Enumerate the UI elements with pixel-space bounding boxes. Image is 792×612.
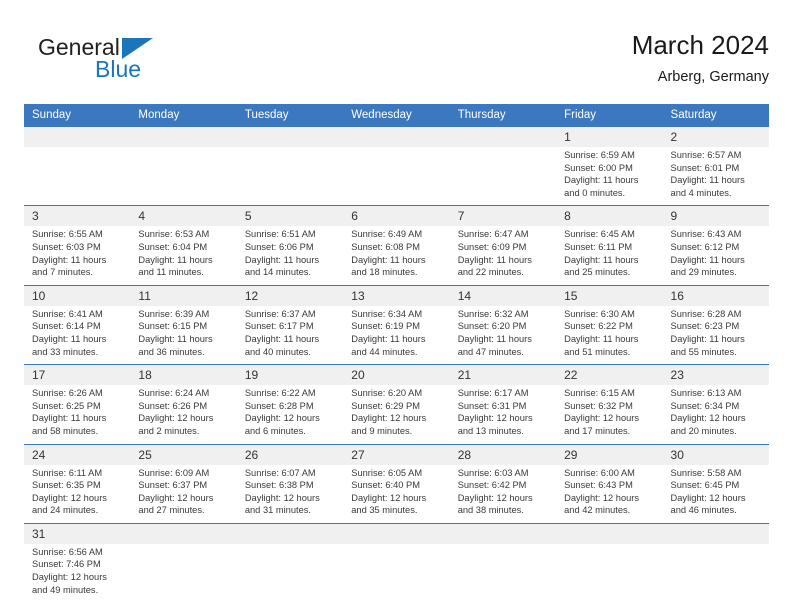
day-detail-23: Sunrise: 6:13 AMSunset: 6:34 PMDaylight:…: [663, 385, 769, 444]
day-detail-4: Sunrise: 6:53 AMSunset: 6:04 PMDaylight:…: [130, 226, 236, 285]
day-detail-line: Sunset: 6:09 PM: [458, 241, 550, 254]
day-detail-line: Daylight: 12 hours: [458, 492, 550, 505]
day-detail-line: Sunrise: 6:39 AM: [138, 308, 230, 321]
day-detail-row: Sunrise: 6:59 AMSunset: 6:00 PMDaylight:…: [24, 147, 769, 206]
day-detail-line: and 0 minutes.: [564, 187, 656, 200]
day-detail-line: Daylight: 11 hours: [564, 174, 656, 187]
day-detail-line: Sunrise: 6:11 AM: [32, 467, 124, 480]
day-detail-line: Daylight: 11 hours: [458, 333, 550, 346]
day-detail-line: and 7 minutes.: [32, 266, 124, 279]
day-detail-line: Sunrise: 6:32 AM: [458, 308, 550, 321]
day-number-empty: [556, 523, 662, 544]
day-detail-line: and 51 minutes.: [564, 346, 656, 359]
day-detail-line: and 13 minutes.: [458, 425, 550, 438]
day-detail-line: Sunset: 6:31 PM: [458, 400, 550, 413]
day-number-empty: [450, 523, 556, 544]
day-number-15[interactable]: 15: [556, 285, 662, 306]
day-detail-9: Sunrise: 6:43 AMSunset: 6:12 PMDaylight:…: [663, 226, 769, 285]
day-detail-line: Daylight: 11 hours: [564, 254, 656, 267]
day-number-3[interactable]: 3: [24, 206, 130, 227]
day-detail-line: Sunrise: 6:59 AM: [564, 149, 656, 162]
day-detail-27: Sunrise: 6:05 AMSunset: 6:40 PMDaylight:…: [343, 465, 449, 524]
day-detail-line: and 47 minutes.: [458, 346, 550, 359]
day-detail-empty: [663, 544, 769, 602]
day-detail-row: Sunrise: 6:26 AMSunset: 6:25 PMDaylight:…: [24, 385, 769, 444]
day-detail-line: Sunset: 6:29 PM: [351, 400, 443, 413]
day-detail-30: Sunrise: 5:58 AMSunset: 6:45 PMDaylight:…: [663, 465, 769, 524]
day-detail-line: Sunrise: 6:57 AM: [671, 149, 763, 162]
day-detail-line: Sunset: 6:25 PM: [32, 400, 124, 413]
day-detail-20: Sunrise: 6:20 AMSunset: 6:29 PMDaylight:…: [343, 385, 449, 444]
day-detail-line: Sunrise: 6:26 AM: [32, 387, 124, 400]
day-number-4[interactable]: 4: [130, 206, 236, 227]
day-number-empty: [130, 523, 236, 544]
day-number-27[interactable]: 27: [343, 444, 449, 465]
day-detail-line: Sunset: 6:26 PM: [138, 400, 230, 413]
logo-text-blue: Blue: [95, 56, 141, 82]
day-detail-1: Sunrise: 6:59 AMSunset: 6:00 PMDaylight:…: [556, 147, 662, 206]
day-number-22[interactable]: 22: [556, 365, 662, 386]
day-detail-line: Sunrise: 6:00 AM: [564, 467, 656, 480]
day-detail-row: Sunrise: 6:55 AMSunset: 6:03 PMDaylight:…: [24, 226, 769, 285]
day-detail-26: Sunrise: 6:07 AMSunset: 6:38 PMDaylight:…: [237, 465, 343, 524]
day-detail-line: and 55 minutes.: [671, 346, 763, 359]
day-number-17[interactable]: 17: [24, 365, 130, 386]
day-number-row: 3456789: [24, 206, 769, 227]
day-detail-empty: [24, 147, 130, 206]
day-detail-line: and 14 minutes.: [245, 266, 337, 279]
day-number-12[interactable]: 12: [237, 285, 343, 306]
day-number-28[interactable]: 28: [450, 444, 556, 465]
day-detail-line: Sunrise: 6:51 AM: [245, 228, 337, 241]
day-detail-line: Sunrise: 6:07 AM: [245, 467, 337, 480]
day-detail-line: Daylight: 12 hours: [564, 412, 656, 425]
day-number-row: 10111213141516: [24, 285, 769, 306]
day-detail-line: Daylight: 11 hours: [138, 333, 230, 346]
day-detail-line: and 36 minutes.: [138, 346, 230, 359]
day-detail-line: Sunset: 6:42 PM: [458, 479, 550, 492]
day-detail-line: Daylight: 11 hours: [671, 174, 763, 187]
general-blue-logo[interactable]: General Blue: [38, 34, 218, 94]
day-number-11[interactable]: 11: [130, 285, 236, 306]
day-number-empty: [450, 127, 556, 147]
day-number-7[interactable]: 7: [450, 206, 556, 227]
day-detail-line: and 22 minutes.: [458, 266, 550, 279]
day-detail-line: and 29 minutes.: [671, 266, 763, 279]
page-title: March 2024: [632, 28, 769, 62]
day-number-30[interactable]: 30: [663, 444, 769, 465]
day-number-empty: [130, 127, 236, 147]
day-detail-line: Sunrise: 6:49 AM: [351, 228, 443, 241]
day-detail-line: Daylight: 11 hours: [138, 254, 230, 267]
weekday-header-thursday: Thursday: [450, 104, 556, 127]
day-number-row: 24252627282930: [24, 444, 769, 465]
weekday-header-saturday: Saturday: [663, 104, 769, 127]
day-number-23[interactable]: 23: [663, 365, 769, 386]
day-detail-line: Sunset: 6:28 PM: [245, 400, 337, 413]
day-detail-15: Sunrise: 6:30 AMSunset: 6:22 PMDaylight:…: [556, 306, 662, 365]
day-detail-line: Daylight: 12 hours: [564, 492, 656, 505]
day-number-14[interactable]: 14: [450, 285, 556, 306]
day-number-25[interactable]: 25: [130, 444, 236, 465]
calendar-body: 12Sunrise: 6:59 AMSunset: 6:00 PMDayligh…: [24, 127, 769, 602]
day-detail-line: and 20 minutes.: [671, 425, 763, 438]
day-number-empty: [24, 127, 130, 147]
day-number-9[interactable]: 9: [663, 206, 769, 227]
weekday-header-wednesday: Wednesday: [343, 104, 449, 127]
day-number-10[interactable]: 10: [24, 285, 130, 306]
day-detail-line: Sunrise: 6:45 AM: [564, 228, 656, 241]
day-detail-line: and 49 minutes.: [32, 584, 124, 597]
day-detail-line: and 35 minutes.: [351, 504, 443, 517]
day-number-8[interactable]: 8: [556, 206, 662, 227]
day-detail-row: Sunrise: 6:56 AMSunset: 7:46 PMDaylight:…: [24, 544, 769, 602]
day-detail-empty: [450, 544, 556, 602]
day-detail-line: Sunset: 6:03 PM: [32, 241, 124, 254]
day-detail-line: Sunset: 6:20 PM: [458, 320, 550, 333]
day-detail-line: Sunrise: 6:17 AM: [458, 387, 550, 400]
day-detail-12: Sunrise: 6:37 AMSunset: 6:17 PMDaylight:…: [237, 306, 343, 365]
weekday-header-tuesday: Tuesday: [237, 104, 343, 127]
day-number-16[interactable]: 16: [663, 285, 769, 306]
title-block: March 2024 Arberg, Germany: [632, 28, 769, 88]
day-detail-24: Sunrise: 6:11 AMSunset: 6:35 PMDaylight:…: [24, 465, 130, 524]
day-detail-line: Sunset: 6:14 PM: [32, 320, 124, 333]
day-number-2[interactable]: 2: [663, 127, 769, 147]
day-detail-empty: [130, 544, 236, 602]
day-detail-11: Sunrise: 6:39 AMSunset: 6:15 PMDaylight:…: [130, 306, 236, 365]
day-detail-line: Sunset: 6:43 PM: [564, 479, 656, 492]
day-detail-line: Sunrise: 6:09 AM: [138, 467, 230, 480]
day-number-empty: [237, 127, 343, 147]
day-detail-19: Sunrise: 6:22 AMSunset: 6:28 PMDaylight:…: [237, 385, 343, 444]
day-detail-10: Sunrise: 6:41 AMSunset: 6:14 PMDaylight:…: [24, 306, 130, 365]
day-number-empty: [343, 523, 449, 544]
day-number-row: 12: [24, 127, 769, 147]
day-number-18[interactable]: 18: [130, 365, 236, 386]
day-detail-line: and 38 minutes.: [458, 504, 550, 517]
day-detail-empty: [450, 147, 556, 206]
day-detail-line: and 33 minutes.: [32, 346, 124, 359]
day-detail-21: Sunrise: 6:17 AMSunset: 6:31 PMDaylight:…: [450, 385, 556, 444]
day-detail-line: Sunset: 6:40 PM: [351, 479, 443, 492]
day-detail-line: Daylight: 12 hours: [351, 412, 443, 425]
day-detail-line: Sunrise: 6:05 AM: [351, 467, 443, 480]
day-detail-25: Sunrise: 6:09 AMSunset: 6:37 PMDaylight:…: [130, 465, 236, 524]
day-detail-13: Sunrise: 6:34 AMSunset: 6:19 PMDaylight:…: [343, 306, 449, 365]
day-detail-line: Daylight: 11 hours: [351, 333, 443, 346]
day-detail-line: Sunset: 6:08 PM: [351, 241, 443, 254]
day-detail-line: Sunrise: 6:13 AM: [671, 387, 763, 400]
page-header: General Blue March 2024 Arberg, Germany: [24, 28, 769, 100]
day-number-empty: [343, 127, 449, 147]
day-detail-row: Sunrise: 6:11 AMSunset: 6:35 PMDaylight:…: [24, 465, 769, 524]
day-detail-17: Sunrise: 6:26 AMSunset: 6:25 PMDaylight:…: [24, 385, 130, 444]
day-detail-line: Sunset: 6:15 PM: [138, 320, 230, 333]
day-detail-empty: [130, 147, 236, 206]
day-number-row: 17181920212223: [24, 365, 769, 386]
day-detail-line: Sunset: 7:46 PM: [32, 558, 124, 571]
day-detail-28: Sunrise: 6:03 AMSunset: 6:42 PMDaylight:…: [450, 465, 556, 524]
day-detail-line: Daylight: 12 hours: [245, 492, 337, 505]
day-detail-line: Sunrise: 6:24 AM: [138, 387, 230, 400]
day-number-20[interactable]: 20: [343, 365, 449, 386]
day-detail-line: Sunset: 6:23 PM: [671, 320, 763, 333]
day-detail-line: Sunrise: 6:41 AM: [32, 308, 124, 321]
day-detail-line: Daylight: 11 hours: [351, 254, 443, 267]
day-number-empty: [663, 523, 769, 544]
day-detail-row: Sunrise: 6:41 AMSunset: 6:14 PMDaylight:…: [24, 306, 769, 365]
day-detail-line: and 2 minutes.: [138, 425, 230, 438]
day-detail-line: and 4 minutes.: [671, 187, 763, 200]
day-detail-line: and 18 minutes.: [351, 266, 443, 279]
day-detail-line: Sunrise: 6:22 AM: [245, 387, 337, 400]
day-number-26[interactable]: 26: [237, 444, 343, 465]
day-detail-empty: [556, 544, 662, 602]
day-detail-line: Sunrise: 6:15 AM: [564, 387, 656, 400]
day-number-21[interactable]: 21: [450, 365, 556, 386]
day-number-13[interactable]: 13: [343, 285, 449, 306]
day-detail-line: Sunset: 6:06 PM: [245, 241, 337, 254]
day-detail-6: Sunrise: 6:49 AMSunset: 6:08 PMDaylight:…: [343, 226, 449, 285]
day-detail-5: Sunrise: 6:51 AMSunset: 6:06 PMDaylight:…: [237, 226, 343, 285]
day-detail-line: Daylight: 12 hours: [32, 492, 124, 505]
day-detail-8: Sunrise: 6:45 AMSunset: 6:11 PMDaylight:…: [556, 226, 662, 285]
day-detail-line: and 40 minutes.: [245, 346, 337, 359]
day-detail-line: and 9 minutes.: [351, 425, 443, 438]
day-detail-line: Sunrise: 6:20 AM: [351, 387, 443, 400]
day-detail-line: Sunrise: 6:03 AM: [458, 467, 550, 480]
day-number-29[interactable]: 29: [556, 444, 662, 465]
day-detail-line: Sunset: 6:01 PM: [671, 162, 763, 175]
weekday-header-monday: Monday: [130, 104, 236, 127]
day-detail-empty: [237, 147, 343, 206]
day-detail-line: Sunset: 6:17 PM: [245, 320, 337, 333]
day-number-19[interactable]: 19: [237, 365, 343, 386]
day-detail-line: and 11 minutes.: [138, 266, 230, 279]
day-detail-line: Sunset: 6:45 PM: [671, 479, 763, 492]
day-detail-line: Sunset: 6:38 PM: [245, 479, 337, 492]
day-detail-line: Daylight: 12 hours: [138, 412, 230, 425]
day-number-5[interactable]: 5: [237, 206, 343, 227]
day-number-row: 31: [24, 523, 769, 544]
day-detail-line: Daylight: 11 hours: [671, 333, 763, 346]
day-detail-line: Sunset: 6:37 PM: [138, 479, 230, 492]
day-detail-line: Sunrise: 6:37 AM: [245, 308, 337, 321]
day-detail-line: Daylight: 11 hours: [564, 333, 656, 346]
day-number-empty: [237, 523, 343, 544]
day-detail-31: Sunrise: 6:56 AMSunset: 7:46 PMDaylight:…: [24, 544, 130, 602]
day-detail-line: Daylight: 12 hours: [32, 571, 124, 584]
weekday-header-row: Sunday Monday Tuesday Wednesday Thursday…: [24, 104, 769, 127]
day-detail-line: Sunrise: 5:58 AM: [671, 467, 763, 480]
day-detail-empty: [343, 544, 449, 602]
day-detail-line: Daylight: 11 hours: [245, 254, 337, 267]
day-number-24[interactable]: 24: [24, 444, 130, 465]
day-detail-line: and 24 minutes.: [32, 504, 124, 517]
weekday-header-friday: Friday: [556, 104, 662, 127]
day-detail-empty: [343, 147, 449, 206]
day-detail-line: Sunset: 6:00 PM: [564, 162, 656, 175]
day-detail-line: Sunrise: 6:53 AM: [138, 228, 230, 241]
page-subtitle: Arberg, Germany: [632, 66, 769, 88]
day-detail-29: Sunrise: 6:00 AMSunset: 6:43 PMDaylight:…: [556, 465, 662, 524]
day-number-31[interactable]: 31: [24, 523, 130, 544]
day-detail-line: Sunrise: 6:43 AM: [671, 228, 763, 241]
day-detail-line: and 27 minutes.: [138, 504, 230, 517]
day-detail-line: Daylight: 11 hours: [32, 412, 124, 425]
day-detail-2: Sunrise: 6:57 AMSunset: 6:01 PMDaylight:…: [663, 147, 769, 206]
day-detail-line: Sunrise: 6:30 AM: [564, 308, 656, 321]
day-detail-line: Sunrise: 6:34 AM: [351, 308, 443, 321]
day-detail-line: Sunrise: 6:55 AM: [32, 228, 124, 241]
day-detail-line: Daylight: 11 hours: [245, 333, 337, 346]
weekday-header-sunday: Sunday: [24, 104, 130, 127]
day-detail-line: Sunrise: 6:56 AM: [32, 546, 124, 559]
day-detail-line: Sunrise: 6:28 AM: [671, 308, 763, 321]
day-detail-line: Daylight: 11 hours: [32, 254, 124, 267]
day-detail-line: Sunset: 6:04 PM: [138, 241, 230, 254]
day-detail-14: Sunrise: 6:32 AMSunset: 6:20 PMDaylight:…: [450, 306, 556, 365]
day-detail-line: Sunset: 6:12 PM: [671, 241, 763, 254]
day-detail-22: Sunrise: 6:15 AMSunset: 6:32 PMDaylight:…: [556, 385, 662, 444]
calendar-page: General Blue March 2024 Arberg, Germany …: [0, 0, 792, 612]
day-detail-line: and 58 minutes.: [32, 425, 124, 438]
day-detail-line: and 31 minutes.: [245, 504, 337, 517]
day-detail-line: and 25 minutes.: [564, 266, 656, 279]
day-detail-line: Sunset: 6:32 PM: [564, 400, 656, 413]
day-detail-line: Daylight: 12 hours: [351, 492, 443, 505]
day-number-1[interactable]: 1: [556, 127, 662, 147]
day-detail-line: Daylight: 11 hours: [671, 254, 763, 267]
day-detail-line: Daylight: 11 hours: [458, 254, 550, 267]
day-detail-line: Sunset: 6:19 PM: [351, 320, 443, 333]
day-detail-line: Daylight: 12 hours: [245, 412, 337, 425]
day-detail-line: Daylight: 12 hours: [138, 492, 230, 505]
day-detail-line: Sunset: 6:34 PM: [671, 400, 763, 413]
day-detail-line: and 42 minutes.: [564, 504, 656, 517]
day-detail-line: and 6 minutes.: [245, 425, 337, 438]
day-detail-empty: [237, 544, 343, 602]
day-detail-line: Daylight: 12 hours: [458, 412, 550, 425]
day-detail-line: Daylight: 12 hours: [671, 412, 763, 425]
day-detail-7: Sunrise: 6:47 AMSunset: 6:09 PMDaylight:…: [450, 226, 556, 285]
day-detail-line: and 17 minutes.: [564, 425, 656, 438]
day-detail-3: Sunrise: 6:55 AMSunset: 6:03 PMDaylight:…: [24, 226, 130, 285]
day-detail-line: Daylight: 12 hours: [671, 492, 763, 505]
day-detail-line: Sunset: 6:22 PM: [564, 320, 656, 333]
day-detail-line: Sunrise: 6:47 AM: [458, 228, 550, 241]
day-detail-line: Sunset: 6:11 PM: [564, 241, 656, 254]
day-detail-line: and 46 minutes.: [671, 504, 763, 517]
day-detail-line: Daylight: 11 hours: [32, 333, 124, 346]
day-detail-line: and 44 minutes.: [351, 346, 443, 359]
day-detail-line: Sunset: 6:35 PM: [32, 479, 124, 492]
day-number-6[interactable]: 6: [343, 206, 449, 227]
day-detail-18: Sunrise: 6:24 AMSunset: 6:26 PMDaylight:…: [130, 385, 236, 444]
calendar-grid: Sunday Monday Tuesday Wednesday Thursday…: [24, 104, 769, 602]
day-detail-16: Sunrise: 6:28 AMSunset: 6:23 PMDaylight:…: [663, 306, 769, 365]
